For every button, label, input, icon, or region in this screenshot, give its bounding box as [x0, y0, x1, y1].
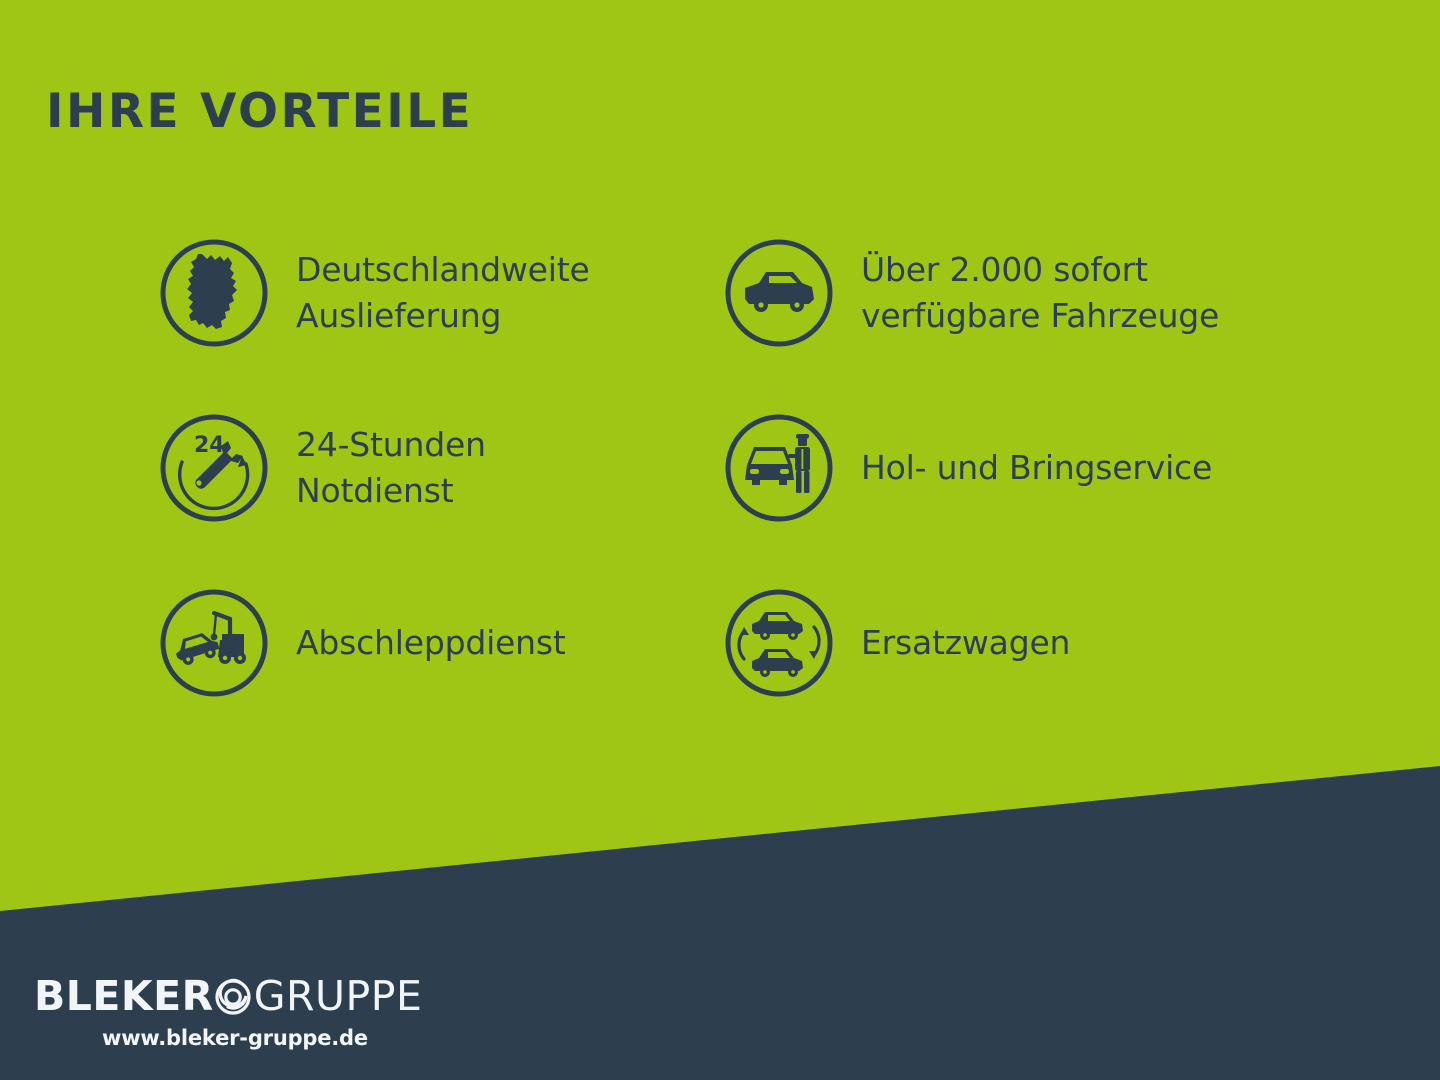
benefit-item-verfuegbare-fahrzeuge: Über 2.000 sofort verfügbare Fahrzeuge: [723, 228, 1288, 358]
benefit-item-24-stunden-notdienst: 24 24-Stunden Notdienst: [158, 403, 723, 533]
car-with-driver-icon: [723, 412, 835, 524]
footer-logo[interactable]: BLEKER GRUPPE www.bleker-gruppe.de: [34, 972, 454, 1050]
logo-primary-text: BLEKER: [34, 976, 214, 1017]
benefit-label: Abschleppdienst: [296, 620, 566, 666]
logo-url[interactable]: www.bleker-gruppe.de: [102, 1026, 454, 1050]
benefit-label: Hol- und Bringservice: [861, 445, 1212, 491]
benefit-item-deutschlandweite-auslieferung: Deutschlandweite Auslieferung: [158, 228, 723, 358]
benefit-item-abschleppdienst: Abschleppdienst: [158, 578, 723, 708]
germany-map-icon: [158, 237, 270, 349]
logo-secondary-text: GRUPPE: [254, 976, 423, 1017]
replacement-car-exchange-icon: [723, 587, 835, 699]
benefit-item-ersatzwagen: Ersatzwagen: [723, 578, 1288, 708]
24-hour-wrench-icon: 24: [158, 412, 270, 524]
logo-row: BLEKER GRUPPE: [34, 972, 454, 1020]
bleker-spiral-logo-icon: [208, 971, 258, 1021]
benefit-label: Über 2.000 sofort verfügbare Fahrzeuge: [861, 247, 1219, 338]
benefit-label: 24-Stunden Notdienst: [296, 422, 486, 513]
slide-canvas: IHRE VORTEILE Deutschlandweite Ausliefer…: [0, 0, 1440, 1080]
benefit-item-hol-und-bringservice: Hol- und Bringservice: [723, 403, 1288, 533]
benefit-label: Deutschlandweite Auslieferung: [296, 247, 590, 338]
benefit-label: Ersatzwagen: [861, 620, 1070, 666]
benefits-grid: Deutschlandweite Auslieferung Über 2.000…: [158, 228, 1388, 708]
car-side-icon: [723, 237, 835, 349]
icon-text-24: 24: [194, 433, 225, 458]
page-title: IHRE VORTEILE: [46, 88, 473, 135]
tow-truck-icon: [158, 587, 270, 699]
